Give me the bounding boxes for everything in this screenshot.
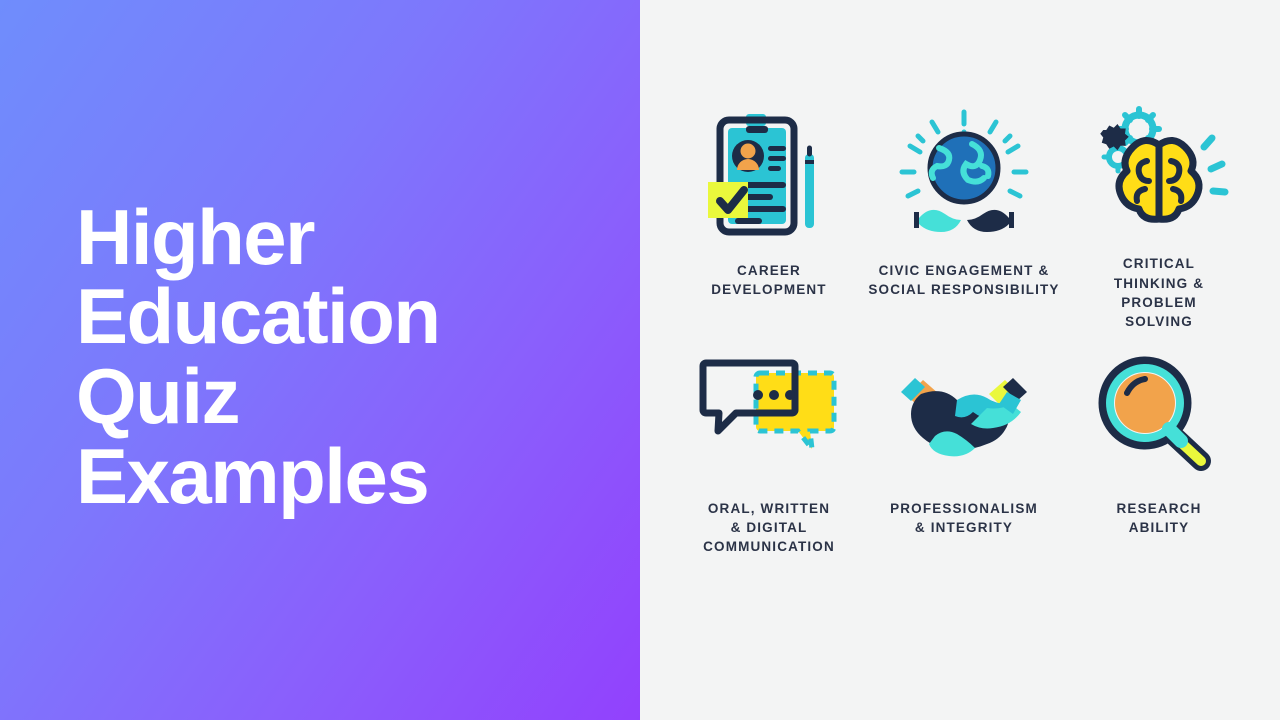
title-panel: Higher Education Quiz Examples xyxy=(0,0,640,720)
competency-label: Career Development xyxy=(711,261,826,299)
competency-item-research-ability: Research Ability xyxy=(1062,347,1257,577)
title-line-4: Examples xyxy=(76,437,440,517)
handshake-icon xyxy=(889,347,1039,487)
competency-label: Professionalism & Integrity xyxy=(890,499,1038,537)
competency-label: Oral, Written & Digital Communication xyxy=(703,499,835,556)
competency-item-critical-thinking: Critical Thinking & Problem Solving xyxy=(1062,101,1257,331)
title-line-2: Education xyxy=(76,277,440,357)
magnifying-glass-icon xyxy=(1084,347,1234,487)
competency-item-career-development: Career Development xyxy=(672,101,867,331)
brain-gears-icon xyxy=(1084,101,1234,244)
page-title: Higher Education Quiz Examples xyxy=(0,198,480,516)
competency-grid: Career Development xyxy=(672,101,1257,577)
competency-item-communication: Oral, Written & Digital Communication xyxy=(672,347,867,577)
globe-hands-icon xyxy=(889,101,1039,251)
competency-label: Research Ability xyxy=(1117,499,1202,537)
slide: Higher Education Quiz Examples xyxy=(0,0,1280,720)
competency-panel: Career Development xyxy=(640,0,1280,720)
title-line-1: Higher xyxy=(76,198,440,278)
competency-item-civic-engagement: Civic Engagement & Social Responsibility xyxy=(867,101,1062,331)
title-line-3: Quiz xyxy=(76,357,440,437)
competency-label: Critical Thinking & Problem Solving xyxy=(1114,254,1204,331)
speech-bubbles-icon xyxy=(694,347,844,487)
clipboard-resume-icon xyxy=(694,101,844,251)
competency-item-professionalism: Professionalism & Integrity xyxy=(867,347,1062,577)
competency-label: Civic Engagement & Social Responsibility xyxy=(868,261,1059,299)
